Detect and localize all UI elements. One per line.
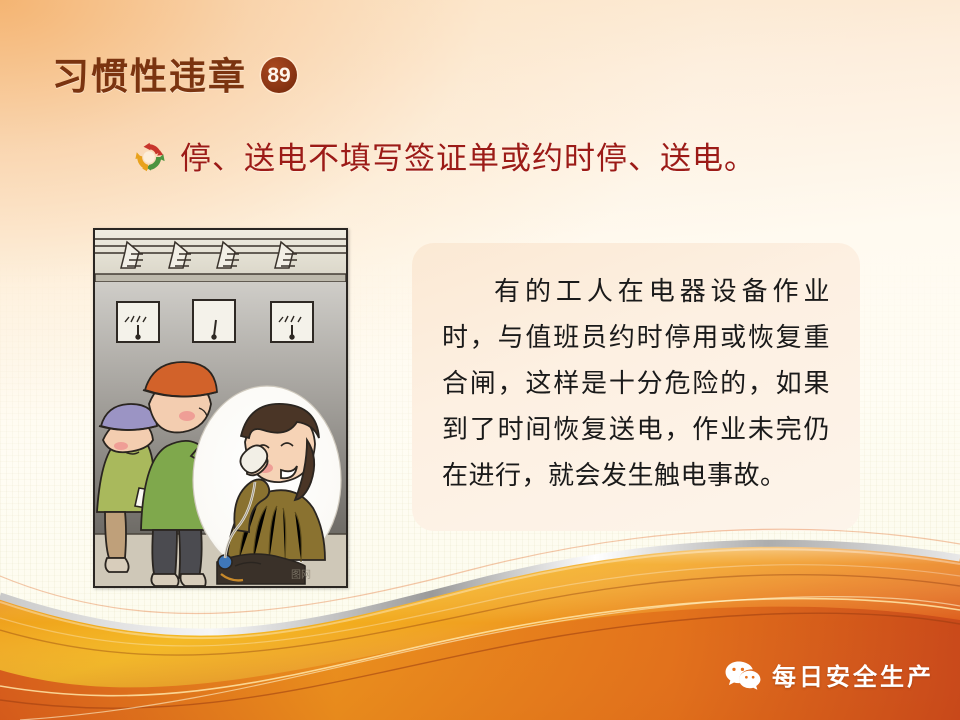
- subtitle-row: 停、送电不填写签证单或约时停、送电。: [132, 133, 756, 178]
- brand-name: 每日安全生产: [772, 657, 934, 692]
- subtitle-text: 停、送电不填写签证单或约时停、送电。: [180, 133, 756, 178]
- page-title: 习惯性违章: [52, 46, 247, 100]
- svg-text:图网: 图网: [291, 569, 311, 581]
- body-text: 有的工人在电器设备作业时，与值班员约时停用或恢复重合闸，这样是十分危险的，如果到…: [442, 269, 830, 499]
- body-text-card: 有的工人在电器设备作业时，与值班员约时停用或恢复重合闸，这样是十分危险的，如果到…: [412, 243, 860, 531]
- illustration-frame: 图网: [93, 228, 348, 588]
- wechat-icon: [725, 660, 761, 690]
- electrical-panel-workers-illustration: 图网: [95, 230, 346, 586]
- footer-brand: 每日安全生产: [725, 657, 934, 692]
- slide-header: 习惯性违章 89: [52, 46, 297, 100]
- chapter-number-badge: 89: [261, 57, 297, 93]
- recycle-arrows-icon: [132, 140, 166, 174]
- slide-root: 习惯性违章 89 停、送电不填写签证单或约时停、送电。: [0, 0, 960, 720]
